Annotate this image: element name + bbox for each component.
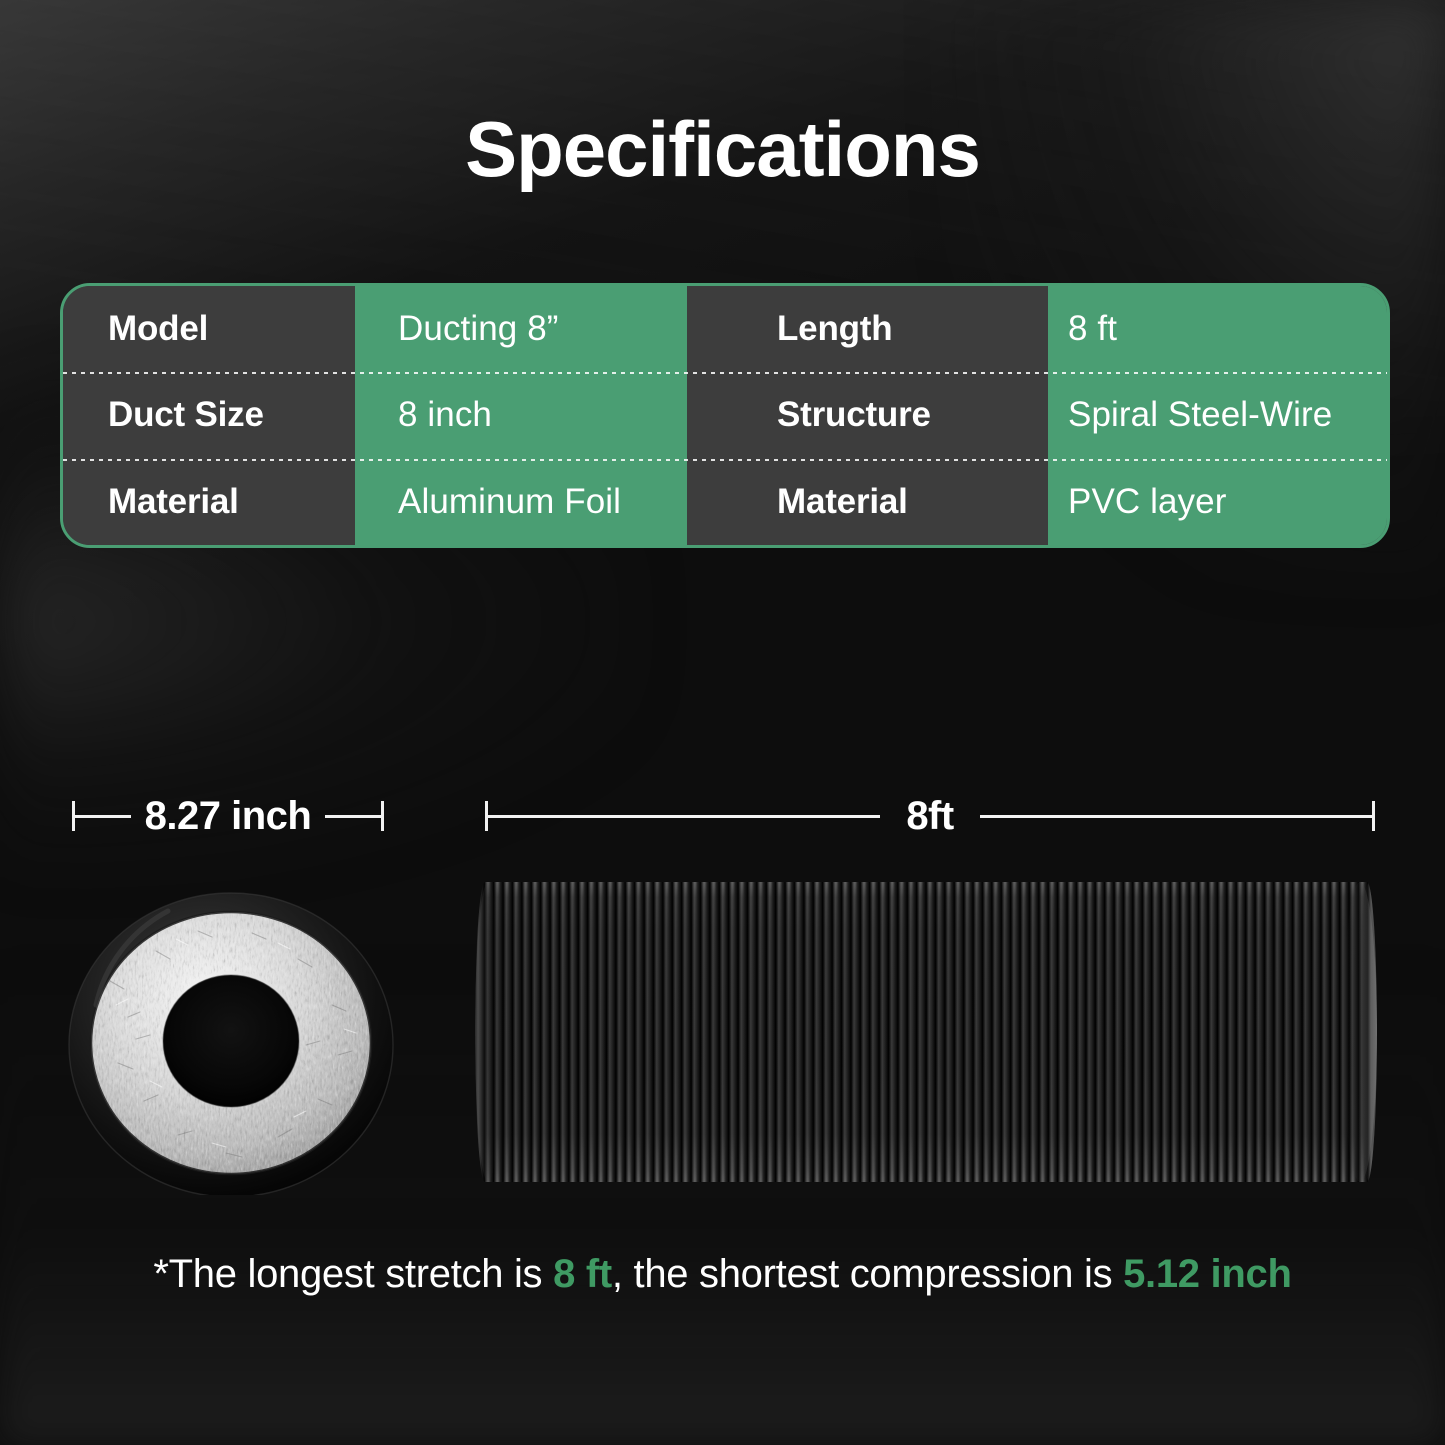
duct-tube-right-rim [1361, 882, 1377, 1182]
spec-value-model: Ducting 8” [355, 286, 687, 372]
table-row: Material Aluminum Foil Material PVC laye… [63, 459, 1387, 545]
background-sheen-top [0, 0, 1445, 1445]
length-dimension-line: 8ft [485, 790, 1375, 842]
footnote-middle: , the shortest compression is [612, 1252, 1123, 1296]
table-row: Model Ducting 8” Length 8 ft [63, 286, 1387, 372]
spec-value-structure: Spiral Steel-Wire [1048, 372, 1387, 458]
spec-label-material-left: Material [63, 459, 355, 545]
footnote-value-compression: 5.12 inch [1123, 1252, 1292, 1296]
spec-value-length: 8 ft [1048, 286, 1387, 372]
spec-value-duct-size: 8 inch [355, 372, 687, 458]
dimension-cap-right [381, 801, 384, 831]
footnote: *The longest stretch is 8 ft, the shorte… [0, 1252, 1445, 1297]
spec-label-length: Length [687, 286, 1048, 372]
dimension-line-right [325, 815, 381, 818]
duct-tube-body [475, 882, 1377, 1182]
page-title: Specifications [0, 104, 1445, 195]
diameter-dimension-line: 8.27 inch [72, 790, 384, 842]
diameter-label: 8.27 inch [131, 794, 326, 839]
duct-tube-left-edge [475, 882, 501, 1182]
footnote-value-stretch: 8 ft [553, 1252, 612, 1296]
spec-value-material-left: Aluminum Foil [355, 459, 687, 545]
duct-cross-section-image [66, 885, 396, 1195]
dimension-cap-right [1372, 801, 1375, 831]
table-row: Duct Size 8 inch Structure Spiral Steel-… [63, 372, 1387, 458]
spec-value-material-right: PVC layer [1048, 459, 1387, 545]
specifications-table: Model Ducting 8” Length 8 ft Duct Size 8… [60, 283, 1390, 548]
spec-label-duct-size: Duct Size [63, 372, 355, 458]
spec-label-structure: Structure [687, 372, 1048, 458]
dimension-line-left [75, 815, 131, 818]
spec-label-material-right: Material [687, 459, 1048, 545]
dimension-line-right [980, 815, 1372, 818]
specifications-infographic: Specifications Model Ducting 8” Length 8… [0, 0, 1445, 1445]
spec-label-model: Model [63, 286, 355, 372]
flexible-duct-tube-image [475, 882, 1377, 1182]
dimension-line-left [488, 815, 880, 818]
footnote-prefix: *The longest stretch is [153, 1252, 553, 1296]
length-label: 8ft [880, 794, 979, 839]
